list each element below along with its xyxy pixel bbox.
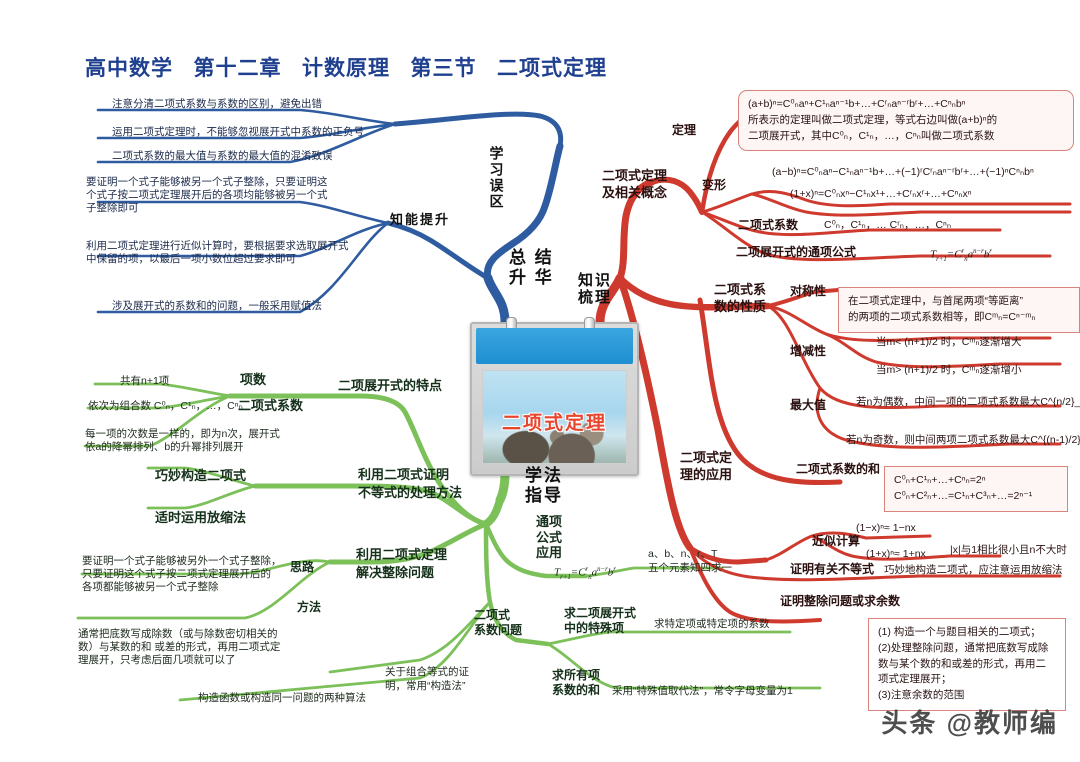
green-node-term-count: 项数 (240, 372, 266, 388)
blue-error-item-3: 二项式系数的最大值与系数的最大值的混淆致误 (112, 150, 333, 163)
red-node-symmetry: 对称性 (790, 284, 826, 299)
green-general-term-note: a、b、n、r、T 五个元素知四求一 (648, 548, 732, 575)
spine-label-study-errors: 学习误区 (487, 146, 505, 232)
page-title: 高中数学 第十二章 计数原理 第三节 二项式定理 (85, 56, 607, 82)
red-text-approx-1: (1−x)ⁿ≈ 1−nx (856, 522, 916, 535)
blue-ability-item-1: 要证明一个式子能够被另一个式子整除，只要证明这 个式子按二项式定理展开后的各项均… (86, 176, 328, 215)
green-text-scaling-method: 适时运用放缩法 (155, 510, 246, 526)
red-node-max: 最大值 (790, 398, 826, 413)
red-node-general-term: 二项展开式的通项公式 (736, 245, 856, 260)
green-node-special-term: 求二项展开式 中的特殊项 (564, 606, 636, 636)
green-text-two-algorithms: 构造函数或构造同一问题的两种算法 (198, 692, 366, 705)
green-node-sum-all-coef: 求所有项 系数的和 (552, 668, 600, 698)
green-title-divisibility: 利用二项式定理 解决整除问题 (356, 546, 447, 581)
red-title-coef-properties: 二项式系 数的性质 (714, 282, 766, 316)
red-text-monotonic-2: 当m> (n+1)/2 时，Cᵐₙ逐渐增小 (876, 364, 1022, 377)
red-node-coef-sum: 二项式系数的和 (796, 462, 880, 477)
green-title-coef-problems: 二项式 系数问题 (474, 608, 522, 638)
red-node-approx: 近似计算 (812, 534, 860, 549)
green-text-construct-binomial: 巧妙构造二项式 (155, 468, 246, 484)
spine-label-knowledge: 知识 梳理 (578, 272, 612, 307)
red-text-deform-1: (a−b)ⁿ=C⁰ₙaⁿ−C¹ₙaⁿ⁻¹b+…+(−1)ʳCʳₙaⁿ⁻ʳbʳ+…… (772, 166, 1034, 179)
card-title: 二项式定理 (483, 408, 626, 435)
red-node-theorem: 定理 (672, 123, 696, 138)
red-title-applications: 二项式定 理的应用 (680, 450, 732, 484)
green-title-general-term: 通项 公式 应用 (536, 514, 562, 561)
red-node-deform: 变形 (702, 178, 726, 193)
red-title-concepts: 二项式定理 及相关概念 (602, 168, 667, 202)
red-box-theorem: (a+b)ⁿ=C⁰ₙaⁿ+C¹ₙaⁿ⁻¹b+…+Cʳₙaⁿ⁻ʳbʳ+…+Cⁿₙb… (738, 90, 1074, 151)
spine-label-summary: 总 结 升 华 (509, 248, 554, 287)
red-node-divisibility: 证明整除问题或求余数 (780, 594, 900, 609)
green-text-divis-method: 通常把底数写成除数（或与除数密切相关的 数）与某数的和 或差的形式，再用二项式定… (78, 628, 280, 667)
blue-error-item-1: 注意分清二项式系数与系数的区别，避免出错 (112, 98, 322, 111)
spine-label-method: 学法 指导 (525, 466, 563, 505)
red-box-divisibility: (1) 构造一个与题目相关的二项式； (2)处理整除问题，通常把底数写成除 数与… (868, 618, 1066, 711)
red-box-symmetry: 在二项式定理中，与首尾两项“等距离” 的两项的二项式系数相等，即Cᵐₙ=Cⁿ⁻ᵐ… (838, 287, 1080, 333)
spine-label-ability: 知能提升 (390, 212, 450, 228)
blue-error-item-2: 运用二项式定理时，不能够忽视展开式中系数的正负号 (112, 126, 364, 139)
red-text-deform-2: (1+x)ⁿ=C⁰ₙxⁿ−C¹ₙx¹+…+Cʳₙxʳ+…+Cⁿₙxⁿ (790, 188, 972, 201)
green-title-inequality: 利用二项式证明 不等式的处理方法 (358, 466, 462, 501)
green-node-divis-idea: 思路 (290, 560, 314, 575)
red-node-inequality: 证明有关不等式 (790, 562, 874, 577)
green-node-binomial-coef: 二项式系数 (238, 398, 303, 414)
blue-ability-item-2: 利用二项式定理进行近似计算时，要根据要求选取展开式 中保留的项，以最后一项小数位… (86, 240, 349, 266)
red-text-approx-2: (1+x)ⁿ≈ 1+nx (866, 548, 926, 561)
green-title-expansion-features: 二项展开式的特点 (338, 378, 442, 394)
green-text-combination-identity: 关于组合等式的证 明，常用“构造法” (385, 666, 469, 693)
green-text-sum-all-coef: 采用“特殊值取代法”，常令字母变量为1 (612, 685, 793, 698)
green-text-term-count: 共有n+1项 (120, 375, 169, 388)
green-text-binomial-coef: 依次为组合数 C⁰ₙ，C¹ₙ，…，Cⁿₙ (88, 400, 243, 413)
blue-ability-item-3: 涉及展开式的系数和的问题，一般采用赋值法 (112, 300, 322, 313)
red-text-general-term: Tr+1=Crnan−rbr (930, 248, 992, 264)
red-text-coef: C⁰ₙ，C¹ₙ，… Cʳₙ，…，Cⁿₙ (824, 219, 951, 232)
green-text-special-term: 求特定项或特定项的系数 (654, 618, 770, 631)
green-general-term-formula: Tr+1=Crnan−rbr (554, 566, 616, 582)
card-photo: 二项式定理 (482, 370, 627, 464)
red-text-approx-note: |x|与1相比很小且n不大时 (950, 544, 1067, 557)
watermark: 头条 @教师编 (881, 703, 1058, 740)
red-text-monotonic-1: 当m< (n+1)/2 时，Cᵐₙ逐渐增大 (876, 336, 1022, 349)
red-text-max-1: 若n为偶数，中间一项的二项式系数最大C^{n/2}_n (856, 396, 1080, 409)
red-text-inequality: 巧妙地构造二项式，应注意运用放缩法 (884, 564, 1063, 577)
green-node-divis-method: 方法 (297, 600, 321, 615)
red-box-coef-sum: C⁰ₙ+C¹ₙ+…+Cⁿₙ=2ⁿ C⁰ₙ+C²ₙ+…=C¹ₙ+C³ₙ+…=2ⁿ⁻… (884, 466, 1068, 512)
mindmap-canvas: 高中数学 第十二章 计数原理 第三节 二项式定理 二项式定理 总 结 升 华 学… (0, 0, 1080, 762)
card-header-bar (476, 328, 633, 364)
green-text-degree: 每一项的次数是一样的，即为n次，展开式 依a的降幂排列、b的升幂排列展开 (85, 428, 280, 454)
red-node-coef: 二项式系数 (738, 218, 798, 233)
red-node-monotonic: 增减性 (790, 344, 826, 359)
green-text-divis-idea: 要证明一个式子能够被另外一个式子整除， 只要证明这个式子按二项式定理展开后的 各… (82, 555, 282, 594)
central-topic-card[interactable]: 二项式定理 (470, 322, 639, 476)
red-text-max-2: 若n为奇数，则中间两项二项式系数最大C^{(n-1)/2}_n=C^{(n+1)… (846, 434, 1080, 447)
